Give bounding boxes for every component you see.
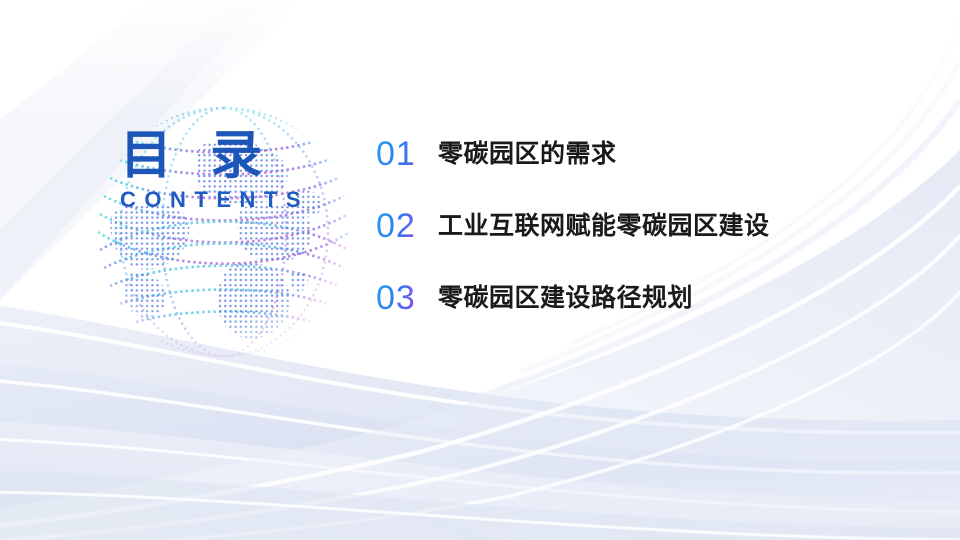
contents-label-02: 工业互联网赋能零碳园区建设 <box>438 212 770 240</box>
contents-item-01[interactable]: 01 零碳园区的需求 <box>376 132 936 176</box>
page-title-block: 目 录 CONTENTS <box>120 128 350 211</box>
contents-item-02[interactable]: 02 工业互联网赋能零碳园区建设 <box>376 204 936 248</box>
contents-number-02: 02 <box>376 209 438 243</box>
contents-number-03: 03 <box>376 281 438 315</box>
page-title-en: CONTENTS <box>120 189 350 211</box>
contents-item-03[interactable]: 03 零碳园区建设路径规划 <box>376 276 936 320</box>
contents-label-03: 零碳园区建设路径规划 <box>438 284 693 312</box>
slide-canvas: 目 录 CONTENTS 01 零碳园区的需求 02 工业互联网赋能零碳园区建设… <box>0 0 960 540</box>
contents-list: 01 零碳园区的需求 02 工业互联网赋能零碳园区建设 03 零碳园区建设路径规… <box>376 132 936 320</box>
contents-label-01: 零碳园区的需求 <box>438 140 617 168</box>
page-title-cn: 目 录 <box>120 128 350 184</box>
contents-number-01: 01 <box>376 137 438 171</box>
